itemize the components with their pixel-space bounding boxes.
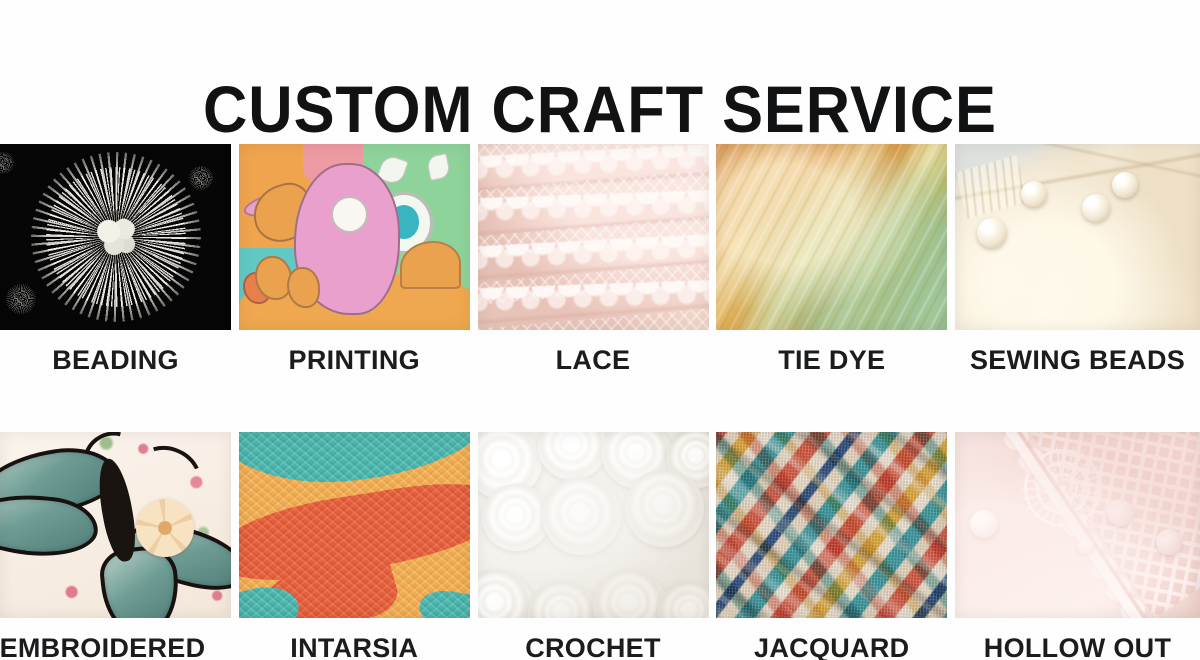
craft-card-printing[interactable]: PRINTING [239, 144, 470, 376]
jacquard-swatch[interactable] [716, 432, 947, 618]
crochet-rosette-9 [528, 581, 597, 618]
intarsia-swatch[interactable] [239, 432, 470, 618]
craft-card-intarsia[interactable]: INTARSIA [239, 432, 470, 660]
craft-card-tie-dye[interactable]: TIE DYE [716, 144, 947, 376]
craft-label-beading: BEADING [0, 344, 231, 376]
embroidered-swatch[interactable] [0, 432, 231, 618]
sewing-beads-swatch[interactable] [955, 144, 1200, 330]
craft-label-intarsia: INTARSIA [239, 632, 470, 660]
craft-card-hollow-out[interactable]: HOLLOW OUT [955, 432, 1200, 660]
craft-label-jacquard: JACQUARD [716, 632, 947, 660]
embroidered-flower-icon [136, 499, 194, 557]
craft-card-sewing-beads[interactable]: SEWING BEADS [955, 144, 1200, 376]
tie-dye-streaks [716, 144, 947, 330]
craft-grid: BEADING [0, 144, 1200, 660]
craft-label-sewing-beads: SEWING BEADS [955, 344, 1200, 376]
craft-label-lace: LACE [478, 344, 709, 376]
knit-stitch-texture [239, 432, 470, 618]
printing-swatch[interactable] [239, 144, 470, 330]
print-foot-2 [287, 267, 319, 308]
jacquard-fuzz-texture [716, 432, 947, 618]
crochet-rosette-2 [538, 432, 607, 480]
crochet-swatch[interactable] [478, 432, 709, 618]
bead-cluster-small-icon [0, 152, 14, 174]
custom-craft-service-banner: CUSTOM CRAFT SERVICE BEADING [0, 0, 1200, 660]
beading-swatch[interactable] [0, 144, 231, 330]
crochet-rosette-10 [593, 570, 667, 618]
page-title: CUSTOM CRAFT SERVICE [42, 70, 1158, 148]
craft-card-crochet[interactable]: CROCHET [478, 432, 709, 660]
craft-label-tie-dye: TIE DYE [716, 344, 947, 376]
craft-grid-row-1: BEADING [0, 144, 1200, 376]
craft-card-jacquard[interactable]: JACQUARD [716, 432, 947, 660]
bead-cluster-bottom-icon [6, 284, 36, 314]
craft-label-crochet: CROCHET [478, 632, 709, 660]
craft-grid-row-2: EMBROIDERED INTARSIA [0, 432, 1200, 660]
craft-card-embroidered[interactable]: EMBROIDERED [0, 432, 231, 660]
crochet-rosette-7 [625, 469, 704, 547]
print-hump-shape [400, 241, 460, 289]
lace-ruffle-4 [478, 279, 709, 330]
craft-label-printing: PRINTING [239, 344, 470, 376]
bead-cluster-top-icon [189, 166, 213, 190]
lace-swatch[interactable] [478, 144, 709, 330]
tie-dye-swatch[interactable] [716, 144, 947, 330]
bead-core-icon [93, 217, 139, 257]
craft-label-embroidered: EMBROIDERED [0, 632, 231, 660]
crochet-rosette-5 [482, 484, 551, 551]
hollow-soft-haze [955, 432, 1200, 618]
crochet-rosette-6 [542, 477, 621, 555]
craft-label-hollow-out: HOLLOW OUT [955, 632, 1200, 660]
craft-card-beading[interactable]: BEADING [0, 144, 231, 376]
hollow-out-swatch[interactable] [955, 432, 1200, 618]
crochet-rosette-11 [658, 581, 709, 618]
craft-card-lace[interactable]: LACE [478, 144, 709, 376]
pearl-bead-4 [1112, 172, 1138, 198]
crochet-rosette-8 [478, 570, 533, 618]
